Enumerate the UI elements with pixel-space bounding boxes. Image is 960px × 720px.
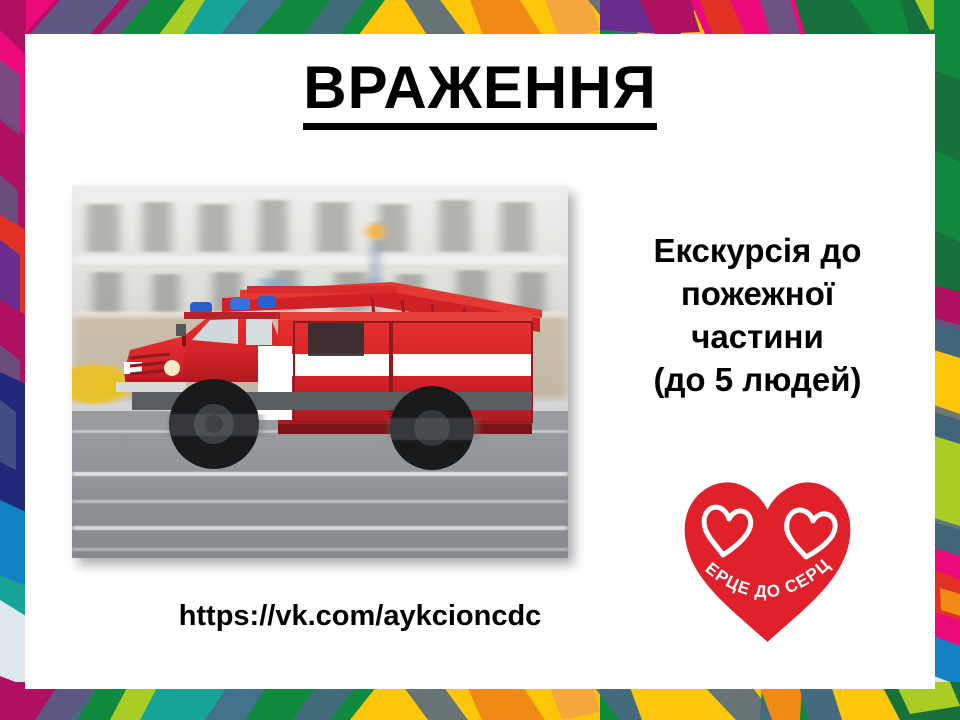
- offer-line-3: частини: [585, 316, 930, 359]
- offer-line-2: пожежної: [585, 273, 930, 316]
- offer-line-1: Екскурсія до: [585, 230, 930, 273]
- offer-line-4: (до 5 людей): [585, 359, 930, 402]
- fire-truck-illustration: [72, 186, 568, 558]
- border-left-band: [0, 0, 26, 720]
- page-title: ВРАЖЕННЯ: [25, 56, 935, 130]
- border-top-right: [600, 0, 960, 35]
- fire-truck-photo: [72, 186, 568, 558]
- offer-text: Екскурсія до пожежної частини (до 5 люде…: [585, 230, 930, 402]
- presentation-slide: ВРАЖЕННЯ: [0, 0, 960, 720]
- content-card: ВРАЖЕННЯ: [25, 34, 935, 689]
- page-title-text: ВРАЖЕННЯ: [303, 56, 656, 130]
- heart-icon: СЕРЦЕ ДО СЕРЦЯ: [675, 470, 860, 650]
- vk-url[interactable]: https://vk.com/aykcioncdc: [55, 600, 665, 633]
- heart-to-heart-logo: СЕРЦЕ ДО СЕРЦЯ: [675, 470, 860, 650]
- border-right-band: [934, 0, 960, 720]
